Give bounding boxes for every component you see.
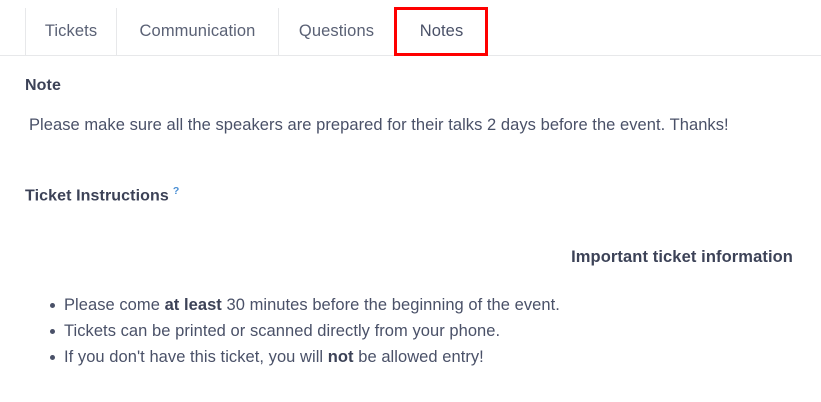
tab-communication[interactable]: Communication [117, 8, 279, 55]
emphasis-text: at least [165, 296, 222, 314]
tab-questions-label: Questions [299, 22, 374, 41]
important-ticket-information-heading: Important ticket information [571, 248, 793, 267]
list-item: Tickets can be printed or scanned direct… [64, 318, 560, 344]
plain-text: be allowed entry! [354, 348, 484, 366]
plain-text: Please come [64, 296, 165, 314]
tab-list: Tickets Communication Questions Notes [25, 8, 488, 55]
plain-text: If you don't have this ticket, you will [64, 348, 328, 366]
ticket-instructions-heading: Ticket Instructions? [25, 185, 179, 205]
tab-tickets-label: Tickets [45, 22, 97, 41]
tab-questions[interactable]: Questions [279, 8, 395, 55]
help-question-icon[interactable]: ? [173, 185, 180, 197]
tab-bar: Tickets Communication Questions Notes [0, 0, 821, 56]
ticket-instructions-list: Please come at least 30 minutes before t… [0, 292, 560, 370]
tab-notes-label: Notes [420, 22, 464, 41]
tab-tickets[interactable]: Tickets [25, 8, 117, 55]
plain-text: Tickets can be printed or scanned direct… [64, 322, 500, 340]
note-body-text: Please make sure all the speakers are pr… [29, 116, 729, 135]
plain-text: 30 minutes before the beginning of the e… [222, 296, 560, 314]
tab-notes[interactable]: Notes [395, 8, 488, 55]
note-heading: Note [25, 77, 61, 95]
list-item: If you don't have this ticket, you will … [64, 344, 560, 370]
list-item: Please come at least 30 minutes before t… [64, 292, 560, 318]
tab-communication-label: Communication [140, 22, 256, 41]
emphasis-text: not [328, 348, 354, 366]
ticket-instructions-label: Ticket Instructions [25, 187, 169, 204]
